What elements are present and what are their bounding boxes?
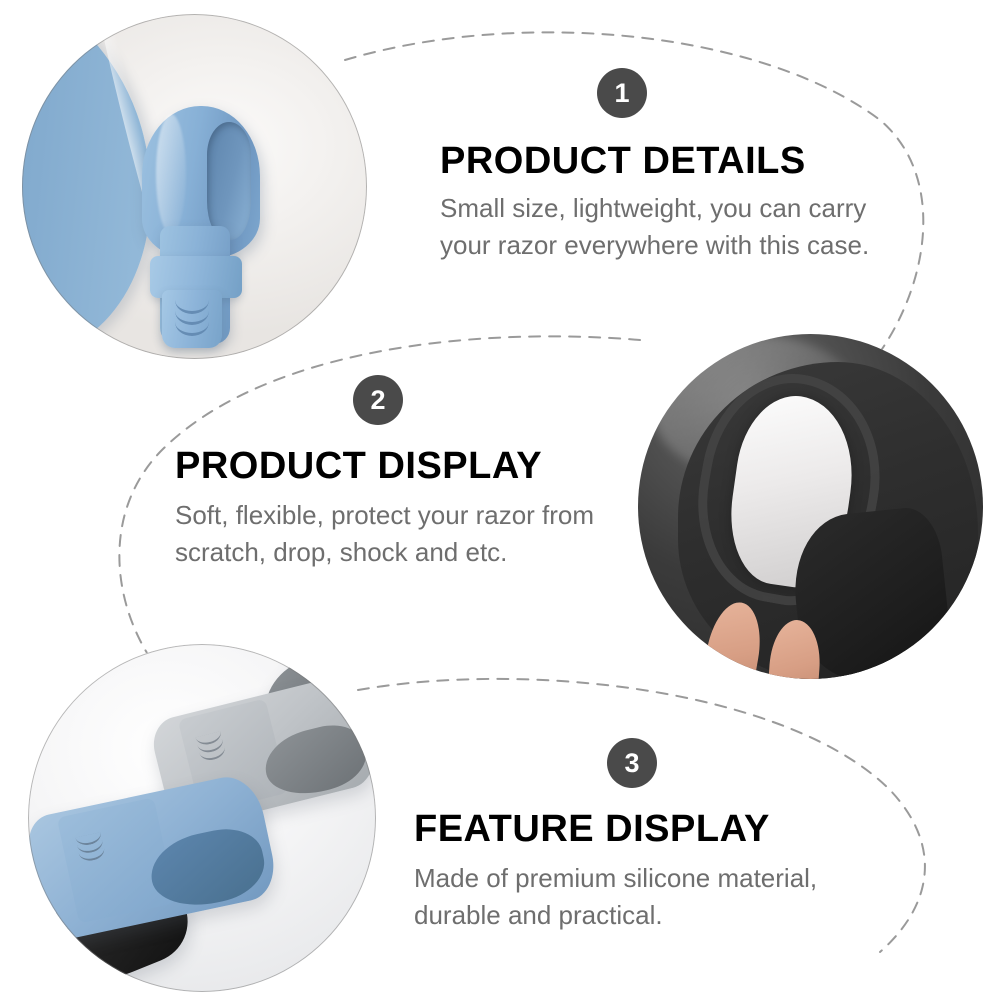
step-2-headline: PRODUCT DISPLAY bbox=[175, 447, 605, 487]
razor-cover-body bbox=[134, 106, 264, 341]
three-razor-covers-photo bbox=[28, 644, 376, 992]
step-2-number-badge: 2 bbox=[353, 375, 403, 425]
step-1-body: Small size, lightweight, you can carry y… bbox=[440, 190, 880, 264]
step-3-number: 3 bbox=[624, 750, 639, 777]
step-3-number-badge: 3 bbox=[607, 738, 657, 788]
cover-loop-opening bbox=[207, 122, 251, 240]
step-1-number: 1 bbox=[614, 80, 629, 107]
step-2-block: 2 PRODUCT DISPLAY Soft, flexible, protec… bbox=[175, 375, 605, 571]
step-3-body: Made of premium silicone material, durab… bbox=[414, 860, 884, 934]
step-3-block: 3 FEATURE DISPLAY Made of premium silico… bbox=[414, 738, 884, 934]
step-1-number-badge: 1 bbox=[597, 68, 647, 118]
cover-highlight bbox=[156, 114, 186, 234]
product-infographic: 1 PRODUCT DETAILS Small size, lightweigh… bbox=[0, 0, 1000, 1000]
cover-grip-tab bbox=[162, 290, 222, 348]
step-1-headline: PRODUCT DETAILS bbox=[440, 142, 880, 182]
step-2-body: Soft, flexible, protect your razor from … bbox=[175, 497, 605, 571]
blue-razor-cover-closeup-photo bbox=[22, 14, 367, 359]
chevron-grip-icon bbox=[75, 832, 106, 863]
step-2-number: 2 bbox=[370, 387, 385, 414]
step-1-block: 1 PRODUCT DETAILS Small size, lightweigh… bbox=[440, 68, 880, 264]
chevron-grip-icon bbox=[175, 300, 209, 340]
step-3-headline: FEATURE DISPLAY bbox=[414, 810, 884, 850]
black-razor-cover-flexed-photo bbox=[638, 334, 983, 679]
